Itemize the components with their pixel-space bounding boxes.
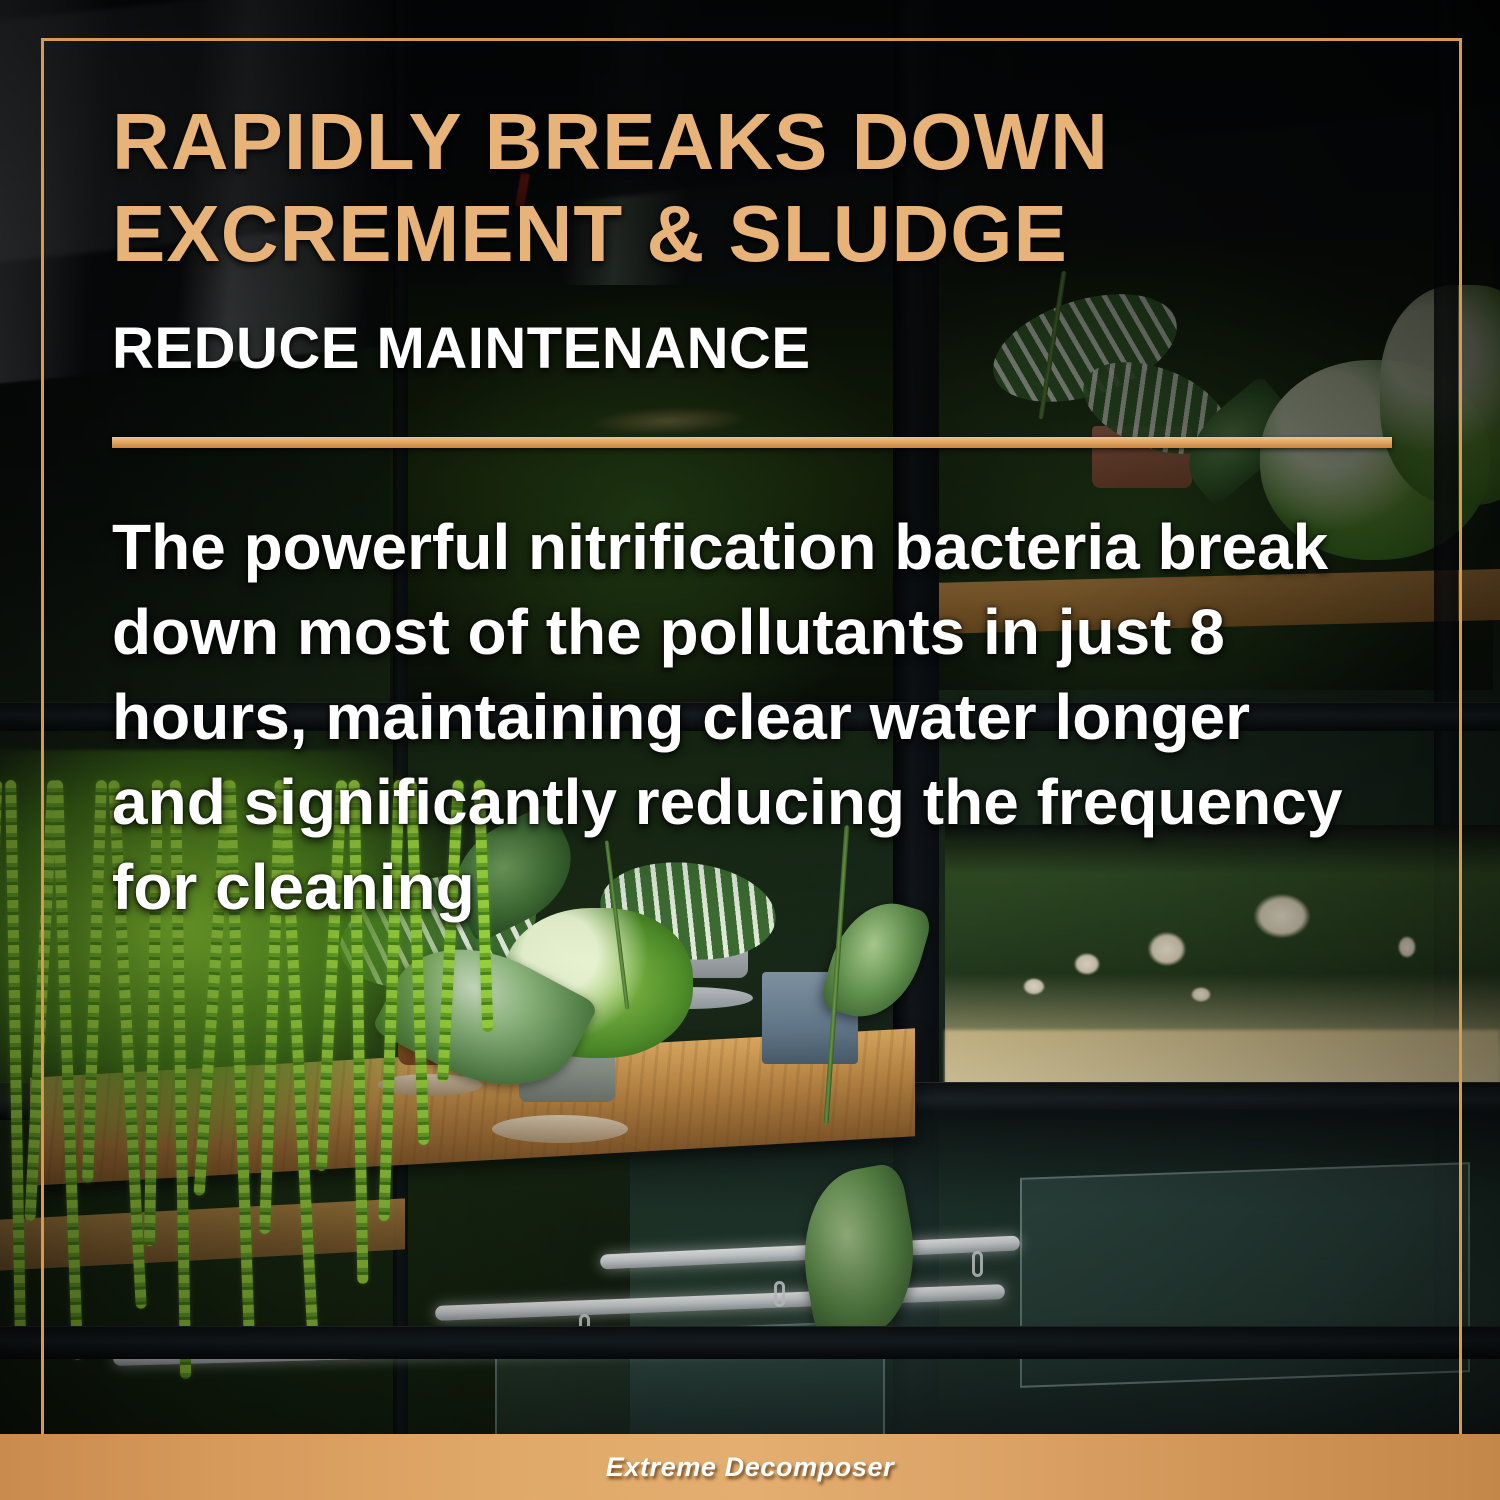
gold-divider-rule: [112, 437, 1392, 448]
brand-bar: Extreme Decomposer: [0, 1434, 1500, 1500]
headline-line-2: EXCREMENT & SLUDGE: [112, 188, 1392, 280]
headline-line-1: RAPIDLY BREAKS DOWN: [112, 96, 1392, 188]
body-line-2: down most of the pollutants in just 8: [112, 590, 1402, 675]
poster-content: RAPIDLY BREAKS DOWN EXCREMENT & SLUDGE R…: [0, 0, 1500, 1500]
headline: RAPIDLY BREAKS DOWN EXCREMENT & SLUDGE: [112, 96, 1392, 280]
brand-name: Extreme Decomposer: [606, 1452, 894, 1483]
body-line-3: hours, maintaining clear water longer: [112, 675, 1402, 760]
product-feature-poster: RAPIDLY BREAKS DOWN EXCREMENT & SLUDGE R…: [0, 0, 1500, 1500]
body-line-4: and significantly reducing the frequency: [112, 760, 1402, 845]
body-copy: The powerful nitrification bacteria brea…: [112, 505, 1402, 930]
body-line-5: for cleaning: [112, 845, 1402, 930]
subheading: REDUCE MAINTENANCE: [112, 318, 1392, 380]
body-line-1: The powerful nitrification bacteria brea…: [112, 505, 1402, 590]
